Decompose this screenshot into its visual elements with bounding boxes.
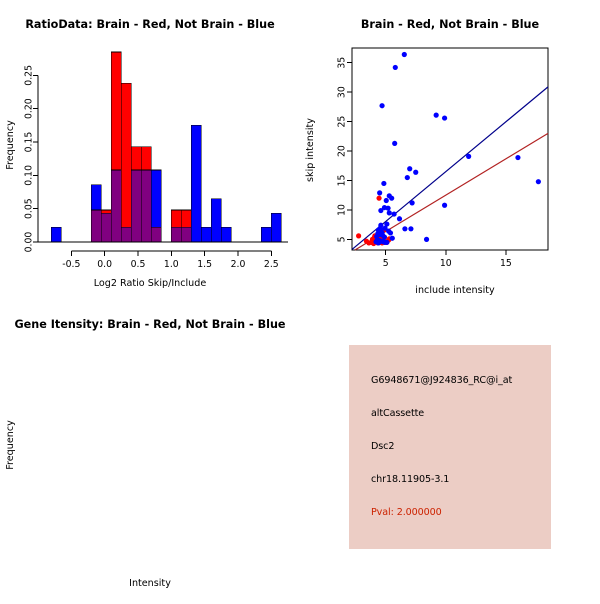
gene-histogram-xlabel: Intensity [129,578,171,589]
scatter-ytick-label: 5 [337,236,348,242]
scatter-xlabel: include intensity [415,285,495,296]
scatter-point [515,155,520,160]
scatter-point [393,65,398,70]
scatter-xtick-label: 15 [500,258,512,269]
ratio-bar-overlap [151,227,161,242]
ratio-bar-blue [271,213,281,242]
ratio-bar-blue [191,125,201,242]
scatter-point [402,52,407,57]
scatter-point [377,190,382,195]
scatter-points [356,52,541,246]
ratio-ytick-label: 0.00 [24,232,35,253]
ratio-xtick-label: 2.0 [231,259,246,270]
scatter-ytick-label: 15 [337,175,348,187]
scatter-point [384,198,389,203]
ratio-xtick-label: 2.5 [264,259,279,270]
scatter-plot-frame [352,48,548,250]
gene-histogram-panel: Gene Itensity: Brain - Red, Not Brain - … [0,300,300,600]
scatter-point [382,226,387,231]
ratio-bar-overlap [181,227,191,242]
scatter-point [397,216,402,221]
ratio-bar-overlap [121,227,131,242]
scatter-point [379,230,384,235]
scatter-point [379,103,384,108]
ratio-histogram-xlabel: Log2 Ratio Skip/Include [94,278,207,289]
scatter-ylabel: skip intensity [305,118,316,182]
ratio-bar-blue [211,199,221,242]
gene-histogram-title: Gene Itensity: Brain - Red, Not Brain - … [15,318,286,331]
scatter-point [410,200,415,205]
scatter-point [442,203,447,208]
ratio-bar-overlap [101,213,111,242]
ratio-ytick-label: 0.10 [24,165,35,186]
scatter-xtick-label: 5 [383,258,389,269]
gene-histogram-svg: Gene Itensity: Brain - Red, Not Brain - … [0,300,300,600]
scatter-point [442,115,447,120]
scatter-svg: Brain - Red, Not Brain - Blue 5101520253… [300,0,600,300]
ratio-xtick-label: 1.5 [197,259,212,270]
ratio-ytick-label: 0.05 [24,198,35,219]
scatter-point [405,175,410,180]
ratio-xtick-label: 0.5 [131,259,146,270]
ratio-ytick-label: 0.25 [24,65,35,86]
scatter-ytick-label: 30 [337,86,348,98]
ratio-bar-red [121,83,131,242]
ratio-ytick-label: 0.20 [24,98,35,119]
scatter-xtick-label: 10 [440,258,452,269]
ratio-bar-blue [51,227,61,242]
scatter-point [387,210,392,215]
gene-histogram-ylabel: Frequency [5,420,16,470]
ratio-histogram-svg: RatioData: Brain - Red, Not Brain - Blue… [0,0,300,300]
locus-text: chr18.11905-3.1 [371,474,545,485]
scatter-point [356,233,361,238]
scatter-frame [352,48,548,250]
pval-text: Pval: 2.000000 [371,507,545,518]
ratio-bar-overlap [141,170,151,242]
scatter-axes: 510152025303551015 [337,57,512,269]
event-type-text: altCassette [371,408,545,419]
ratio-bar-blue [261,227,271,242]
scatter-panel: Brain - Red, Not Brain - Blue 5101520253… [300,0,600,300]
scatter-title: Brain - Red, Not Brain - Blue [361,18,540,31]
ratio-xtick-label: 1.0 [164,259,179,270]
scatter-ytick-label: 20 [337,145,348,157]
scatter-point [384,240,389,245]
ratio-bar-overlap [131,170,141,242]
ratio-histogram-ylabel: Frequency [5,120,16,170]
scatter-point [391,211,396,216]
ratio-histogram-panel: RatioData: Brain - Red, Not Brain - Blue… [0,0,300,300]
ratio-xtick-label: -0.5 [62,259,80,270]
scatter-point [376,196,381,201]
scatter-point [407,166,412,171]
gene-info-text-block: G6948671@J924836_RC@i_at altCassette Dsc… [371,375,545,518]
scatter-point [424,237,429,242]
ratio-bar-blue [221,227,231,242]
scatter-point [392,141,397,146]
ratio-histogram-bars [51,52,281,242]
gene-symbol-text: Dsc2 [371,441,545,452]
ratio-bar-blue [201,227,211,242]
scatter-point [373,239,378,244]
ratio-bar-overlap [171,227,181,242]
ratio-xtick-label: 0.0 [97,259,112,270]
ratio-histogram-title: RatioData: Brain - Red, Not Brain - Blue [25,18,275,31]
gene-info-box: G6948671@J924836_RC@i_at altCassette Dsc… [349,345,551,549]
scatter-point [381,181,386,186]
scatter-point [434,113,439,118]
gene-info-panel: G6948671@J924836_RC@i_at altCassette Dsc… [300,300,600,600]
scatter-ytick-label: 25 [337,116,348,128]
scatter-point [378,208,383,213]
scatter-point [385,206,390,211]
scatter-point [536,179,541,184]
scatter-point [389,196,394,201]
scatter-point [413,170,418,175]
scatter-ytick-label: 10 [337,204,348,216]
probe-id-text: G6948671@J924836_RC@i_at [371,375,545,386]
ratio-bar-overlap [91,210,101,242]
ratio-bar-overlap [111,170,121,242]
scatter-point [466,154,471,159]
scatter-ytick-label: 35 [337,57,348,69]
scatter-point [408,226,413,231]
r-plot-canvas: RatioData: Brain - Red, Not Brain - Blue… [0,0,600,600]
scatter-point [390,236,395,241]
ratio-ytick-label: 0.15 [24,132,35,153]
scatter-point [402,226,407,231]
